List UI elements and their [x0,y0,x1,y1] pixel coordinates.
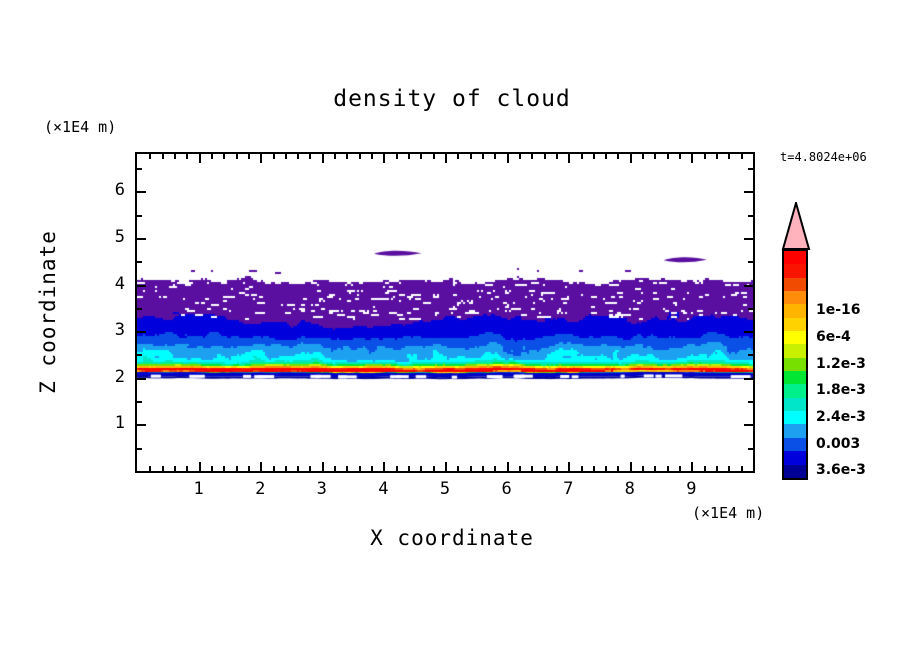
colorbar-tick-label: 2.4e-3 [816,409,866,425]
colorbar-tick-label: 3.6e-3 [816,462,866,478]
colorbar-tick-labels: 3.6e-30.0032.4e-31.8e-31.2e-36e-41e-16 [0,0,904,654]
colorbar-tick-label: 6e-4 [816,329,851,345]
colorbar-tick-label: 1.8e-3 [816,382,866,398]
colorbar-tick-label: 0.003 [816,436,860,452]
figure-root: density of cloud (×1E4 m) t=4.8024e+06 1… [0,0,904,654]
colorbar-tick-label: 1e-16 [816,302,861,318]
colorbar-tick-label: 1.2e-3 [816,356,866,372]
